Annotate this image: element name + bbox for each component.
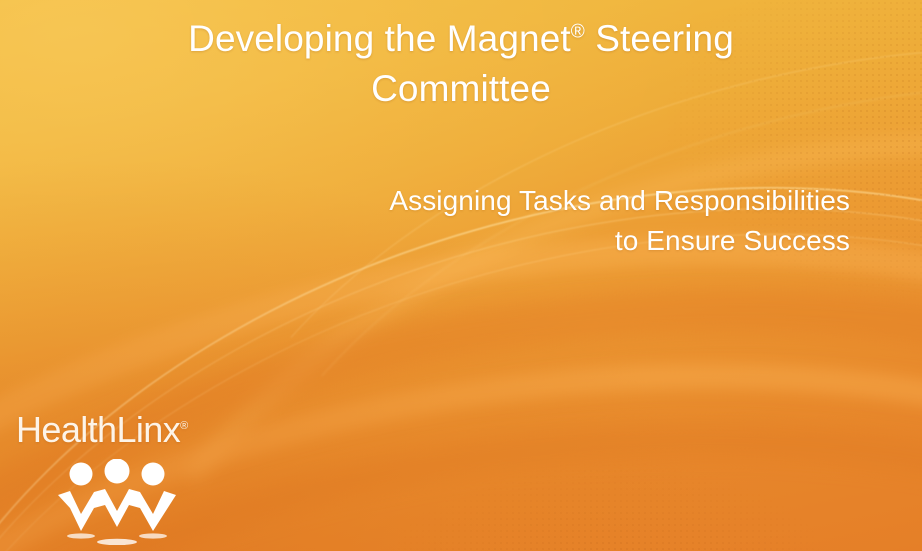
slide-subtitle-line-1: Assigning Tasks and Responsibilities: [150, 181, 850, 221]
slide-title: Developing the Magnet® Steering Committe…: [0, 14, 922, 114]
registered-trademark-icon: ®: [571, 22, 585, 43]
slide-title-line-2: Committee: [0, 64, 922, 114]
slide-title-line-1: Developing the Magnet® Steering: [0, 14, 922, 64]
slide-title-text-after-mark: Steering: [585, 18, 734, 59]
slide-subtitle: Assigning Tasks and Responsibilities to …: [150, 181, 850, 261]
registered-trademark-icon: ®: [180, 420, 188, 432]
healthlinx-logo: HealthLinx®: [16, 409, 188, 550]
slide-subtitle-line-2: to Ensure Success: [150, 221, 850, 261]
presentation-slide: Developing the Magnet® Steering Committe…: [0, 0, 922, 551]
slide-title-text-before-mark: Developing the Magnet: [188, 18, 571, 59]
healthlinx-wordmark-text: HealthLinx: [16, 409, 180, 450]
three-people-icon: [56, 459, 178, 545]
healthlinx-wordmark: HealthLinx®: [16, 409, 188, 451]
